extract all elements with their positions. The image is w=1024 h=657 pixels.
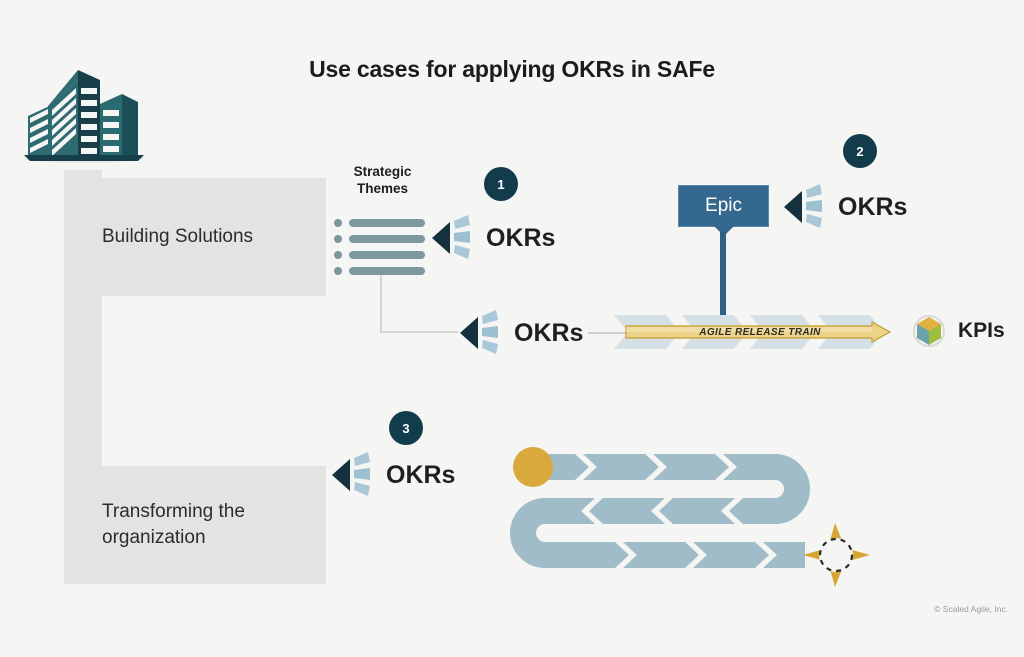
okr-group-epic: OKRs <box>782 176 907 238</box>
city-buildings-icon <box>18 58 150 163</box>
list-item <box>334 267 434 275</box>
bullet-dot <box>334 267 342 275</box>
list-item <box>334 219 434 227</box>
strategic-themes-list <box>334 219 434 283</box>
bullet-bar <box>349 235 425 243</box>
epic-box: Epic <box>678 185 769 227</box>
badge-2: 2 <box>843 134 877 168</box>
kpi-group: KPIs <box>908 310 1005 352</box>
roadmap-path <box>505 445 905 595</box>
badge-3: 3 <box>389 411 423 445</box>
page-title: Use cases for applying OKRs in SAFe <box>0 56 1024 83</box>
connector-themes-vertical <box>380 275 382 333</box>
bullet-dot <box>334 251 342 259</box>
okr-group-strategic-themes: OKRs <box>430 207 555 269</box>
kpi-cube-icon <box>908 310 950 352</box>
list-item <box>334 235 434 243</box>
bullet-bar <box>349 219 425 227</box>
strategic-themes-title-line2: Themes <box>330 181 435 198</box>
bullet-dot <box>334 219 342 227</box>
okr-label: OKRs <box>386 461 455 490</box>
roadmap-start-dot <box>513 447 553 487</box>
list-item <box>334 251 434 259</box>
connector-themes-horizontal <box>380 331 458 333</box>
bullet-bar <box>349 251 425 259</box>
agile-release-train <box>614 313 906 351</box>
arrow-building-solutions-label: Building Solutions <box>102 178 276 296</box>
arrow-head <box>288 466 326 584</box>
diagram-canvas: Use cases for applying OKRs in SAFe <box>0 0 1024 657</box>
okr-arrow-icon <box>458 302 504 364</box>
compass-rose-icon <box>803 523 870 587</box>
strategic-themes-title-line1: Strategic <box>330 164 435 181</box>
arrow-transforming-organization: Transforming the organization <box>64 466 326 584</box>
okr-arrow-icon <box>430 207 476 269</box>
arrow-building-solutions: Building Solutions <box>64 178 326 296</box>
bullet-bar <box>349 267 425 275</box>
okr-group-art: OKRs <box>458 302 583 364</box>
strategic-themes-title: Strategic Themes <box>330 164 435 198</box>
bullet-dot <box>334 235 342 243</box>
okr-arrow-icon <box>782 176 828 238</box>
kpi-label: KPIs <box>958 319 1005 343</box>
badge-1: 1 <box>484 167 518 201</box>
copyright-text: © Scaled Agile, Inc. <box>934 604 1008 614</box>
okr-label: OKRs <box>486 224 555 253</box>
okr-group-roadmap: OKRs <box>330 444 455 506</box>
okr-label: OKRs <box>514 319 583 348</box>
arrow-transforming-organization-label: Transforming the organization <box>102 466 276 584</box>
arrow-head <box>288 178 326 296</box>
okr-label: OKRs <box>838 193 907 222</box>
okr-arrow-icon <box>330 444 376 506</box>
